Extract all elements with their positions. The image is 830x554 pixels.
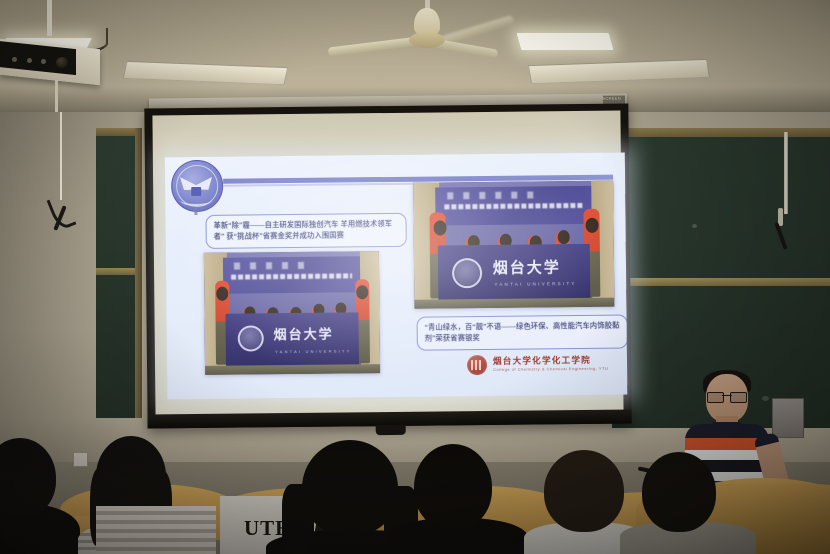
audience-member xyxy=(96,498,216,554)
college-logo: 烟台大学化学化工学院 College of Chemistry & Chemic… xyxy=(467,353,617,377)
projector-indicator xyxy=(41,59,46,64)
college-seal-icon xyxy=(467,355,487,375)
light-panel-icon xyxy=(517,33,614,50)
audience-member xyxy=(634,452,754,554)
blackboard-frame xyxy=(612,278,830,286)
banner-en-text: YANTAI UNIVERSITY xyxy=(275,348,351,354)
audience-member xyxy=(404,444,514,554)
ceiling-fan-hub xyxy=(409,32,445,48)
college-name-en: College of Chemistry & Chemical Engineer… xyxy=(493,366,608,372)
banner-cn-text: 烟台大学 xyxy=(493,256,561,278)
projected-slide: 革新“除”霾——自主研发国际独创汽车 羊用燃技术领军者” 获“挑战杯”省赛金奖并… xyxy=(165,153,628,400)
blackboard-frame xyxy=(612,128,830,137)
screen-surface: 革新“除”霾——自主研发国际独创汽车 羊用燃技术领军者” 获“挑战杯”省赛金奖并… xyxy=(152,111,623,416)
lecture-hall-photo: SCREEN 革新“除”霾——自主研发国际独创汽车 羊用燃技术领军者” 获“挑战… xyxy=(0,0,830,554)
projector-indicator xyxy=(27,58,32,63)
slide-callout-second: “青山绿水，百“靓”不语——绿色环保、高性能汽车内饰胶黏剂”荣获省赛银奖 xyxy=(417,314,628,350)
slide-photo-left: 烟台大学 YANTAI UNIVERSITY xyxy=(204,251,380,375)
chalk-mark xyxy=(692,224,697,228)
slide-callout-first: 革新“除”霾——自主研发国际独创汽车 羊用燃技术领军者” 获“挑战杯”省赛金奖并… xyxy=(205,213,406,249)
projection-screen: 革新“除”霾——自主研发国际独创汽车 羊用燃技术领军者” 获“挑战杯”省赛金奖并… xyxy=(144,103,631,428)
glasses-icon xyxy=(707,392,747,401)
hanging-cord-left xyxy=(60,112,62,200)
blackboard-frame xyxy=(135,128,142,418)
screen-pull-handle[interactable] xyxy=(376,425,406,435)
seal-stem xyxy=(194,207,197,215)
banner-cn-text: 烟台大学 xyxy=(273,324,333,344)
projector-lens xyxy=(56,57,68,68)
blackboard-left xyxy=(96,128,142,418)
hanging-rod-right xyxy=(784,132,788,214)
slide-photo-right: 烟台大学 YANTAI UNIVERSITY xyxy=(413,181,614,309)
banner-en-text: YANTAI UNIVERSITY xyxy=(494,281,576,287)
audience-member xyxy=(0,438,80,554)
college-name-cn: 烟台大学化学化工学院 xyxy=(493,354,591,367)
photo-banner: 烟台大学 YANTAI UNIVERSITY xyxy=(438,244,591,304)
university-seal-icon xyxy=(171,160,222,211)
photo-banner: 烟台大学 YANTAI UNIVERSITY xyxy=(225,312,359,369)
projector-indicator xyxy=(12,57,17,62)
screen-housing-label: SCREEN xyxy=(602,96,621,101)
